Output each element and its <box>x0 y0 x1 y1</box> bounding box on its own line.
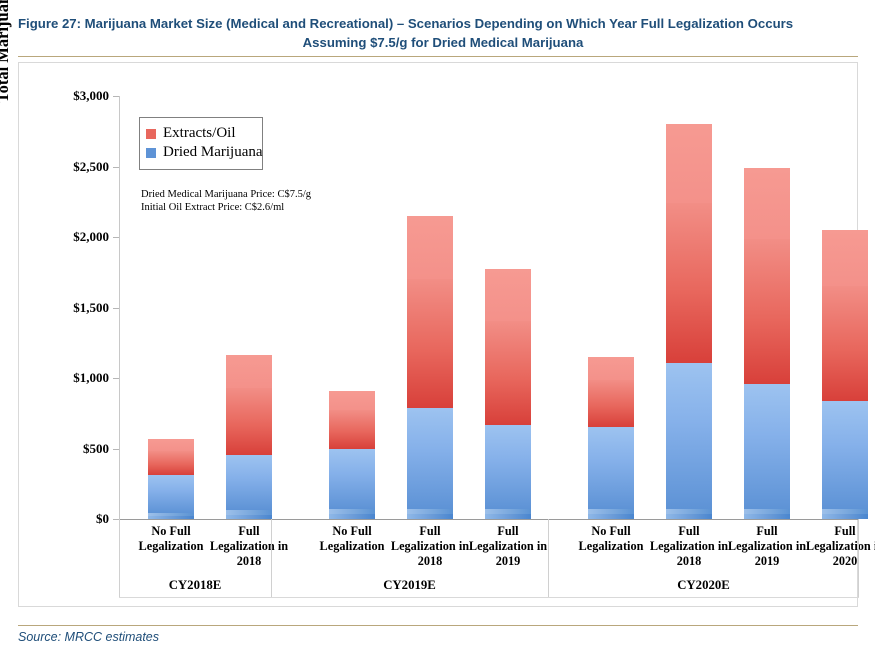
x-axis-line <box>119 519 859 520</box>
bar-segment-extracts-oil-top <box>148 439 194 451</box>
bar-segment-extracts-oil-top <box>407 216 453 279</box>
bar-segment-dried-secondary <box>744 509 790 514</box>
bar-segment-dried-marijuana <box>744 384 790 509</box>
bar-segment-dried-secondary <box>588 509 634 514</box>
x-axis-category-label-line-2: Legalization in <box>456 539 560 554</box>
bar-segment-extracts-oil <box>148 451 194 475</box>
bar-segment-dried-medical <box>226 515 272 519</box>
group-separator <box>271 519 272 598</box>
legend-label-extracts-oil: Extracts/Oil <box>163 125 235 142</box>
bar-segment-dried-secondary <box>148 513 194 516</box>
bar-column[interactable] <box>822 230 868 519</box>
bar-segment-extracts-oil-top <box>666 124 712 203</box>
bar-segment-extracts-oil-top <box>588 357 634 380</box>
x-axis-category-label-line-3: 2019 <box>456 554 560 569</box>
bar-segment-dried-medical <box>148 516 194 519</box>
y-axis-tick-mark <box>113 167 119 168</box>
bar-column[interactable] <box>485 269 531 519</box>
group-separator <box>119 519 120 598</box>
y-axis-tick-label: $500 <box>83 441 109 457</box>
annotation-dried-price: Dried Medical Marijuana Price: C$7.5/g <box>141 188 311 201</box>
bar-segment-dried-marijuana <box>485 425 531 509</box>
y-axis-title: Total Marijuana Market Size (C$, 'M) <box>0 0 13 148</box>
legend-swatch-extracts-oil <box>146 129 156 139</box>
price-assumption-annotation: Dried Medical Marijuana Price: C$7.5/g I… <box>141 188 311 214</box>
bar-column[interactable] <box>148 439 194 519</box>
legend-swatch-dried-marijuana <box>146 148 156 158</box>
bar-segment-extracts-oil <box>666 203 712 363</box>
bar-segment-extracts-oil-top <box>822 230 868 286</box>
source-divider <box>18 625 858 626</box>
y-axis-tick-mark <box>113 378 119 379</box>
bar-segment-dried-secondary <box>226 510 272 514</box>
bar-segment-dried-marijuana <box>666 363 712 510</box>
y-axis-tick-label: $0 <box>96 511 109 527</box>
bar-segment-dried-marijuana <box>226 455 272 510</box>
bar-segment-dried-medical <box>744 514 790 519</box>
figure-title: Figure 27: Marijuana Market Size (Medica… <box>18 14 858 52</box>
y-axis-tick-mark <box>113 96 119 97</box>
bar-column[interactable] <box>744 168 790 519</box>
chart-legend: Extracts/Oil Dried Marijuana <box>139 117 263 170</box>
bar-segment-extracts-oil <box>329 410 375 449</box>
legend-label-dried-marijuana: Dried Marijuana <box>163 144 263 161</box>
x-axis-category-label-line-2: Legalization in <box>793 539 875 554</box>
bar-segment-dried-marijuana <box>588 427 634 509</box>
y-axis-tick-label: $2,500 <box>73 159 109 175</box>
bar-segment-dried-secondary <box>666 509 712 514</box>
y-axis-tick-mark <box>113 308 119 309</box>
bar-segment-dried-marijuana <box>148 475 194 513</box>
bar-column[interactable] <box>329 391 375 519</box>
bar-segment-dried-marijuana <box>822 401 868 509</box>
x-axis-category-label-line-1: Full <box>197 524 301 539</box>
bar-segment-extracts-oil <box>744 239 790 384</box>
group-separator <box>858 519 859 598</box>
x-axis-category-label: FullLegalization in2019 <box>456 524 560 569</box>
y-axis-tick-label: $1,000 <box>73 370 109 386</box>
source-note: Source: MRCC estimates <box>18 630 159 644</box>
bar-segment-dried-secondary <box>485 509 531 514</box>
group-separator <box>548 519 549 598</box>
bar-segment-extracts-oil-top <box>329 391 375 410</box>
x-axis-category-label-line-1: Full <box>456 524 560 539</box>
x-axis-group-label: CY2020E <box>548 578 859 593</box>
bar-segment-dried-secondary <box>822 509 868 514</box>
y-axis-tick-label: $2,000 <box>73 229 109 245</box>
figure-title-line-2: Assuming $7.5/g for Dried Medical Mariju… <box>18 33 858 52</box>
bar-segment-dried-marijuana <box>329 449 375 510</box>
bar-segment-dried-medical <box>666 514 712 519</box>
bar-segment-extracts-oil <box>407 279 453 407</box>
x-axis-category-label-line-3: 2018 <box>197 554 301 569</box>
bar-segment-extracts-oil-top <box>226 355 272 388</box>
bar-segment-dried-medical <box>329 514 375 519</box>
bar-column[interactable] <box>226 355 272 519</box>
bar-column[interactable] <box>407 216 453 519</box>
bar-segment-extracts-oil-top <box>485 269 531 320</box>
legend-item-extracts-oil: Extracts/Oil <box>146 125 256 142</box>
x-axis-category-label: FullLegalization in2018 <box>197 524 301 569</box>
bar-segment-dried-medical <box>588 514 634 519</box>
y-axis-tick-mark <box>113 237 119 238</box>
legend-item-dried-marijuana: Dried Marijuana <box>146 144 256 161</box>
y-axis-tick-mark <box>113 449 119 450</box>
bar-segment-extracts-oil <box>226 388 272 455</box>
bar-segment-extracts-oil <box>485 321 531 425</box>
bar-segment-dried-medical <box>485 514 531 519</box>
x-axis-group-label: CY2018E <box>119 578 271 593</box>
bar-segment-dried-secondary <box>329 509 375 514</box>
y-axis-tick-label: $1,500 <box>73 300 109 316</box>
figure-title-line-1: Figure 27: Marijuana Market Size (Medica… <box>18 14 858 33</box>
annotation-oil-price: Initial Oil Extract Price: C$2.6/ml <box>141 201 311 214</box>
bar-segment-dried-medical <box>407 514 453 519</box>
y-axis-tick-label: $3,000 <box>73 88 109 104</box>
x-axis-group-label: CY2019E <box>271 578 548 593</box>
bar-column[interactable] <box>666 124 712 519</box>
bar-segment-extracts-oil <box>822 286 868 400</box>
bar-segment-extracts-oil-top <box>744 168 790 239</box>
bar-segment-dried-secondary <box>407 509 453 514</box>
bar-segment-dried-medical <box>822 514 868 519</box>
title-divider <box>18 56 858 57</box>
x-axis-category-label-line-1: Full <box>793 524 875 539</box>
x-axis-category-label-line-2: Legalization in <box>197 539 301 554</box>
bar-segment-extracts-oil <box>588 380 634 427</box>
x-axis-category-label: FullLegalization in2020 <box>793 524 875 569</box>
category-baseline <box>119 597 859 598</box>
bar-column[interactable] <box>588 357 634 519</box>
x-axis-category-label-line-3: 2020 <box>793 554 875 569</box>
bar-segment-dried-marijuana <box>407 408 453 509</box>
